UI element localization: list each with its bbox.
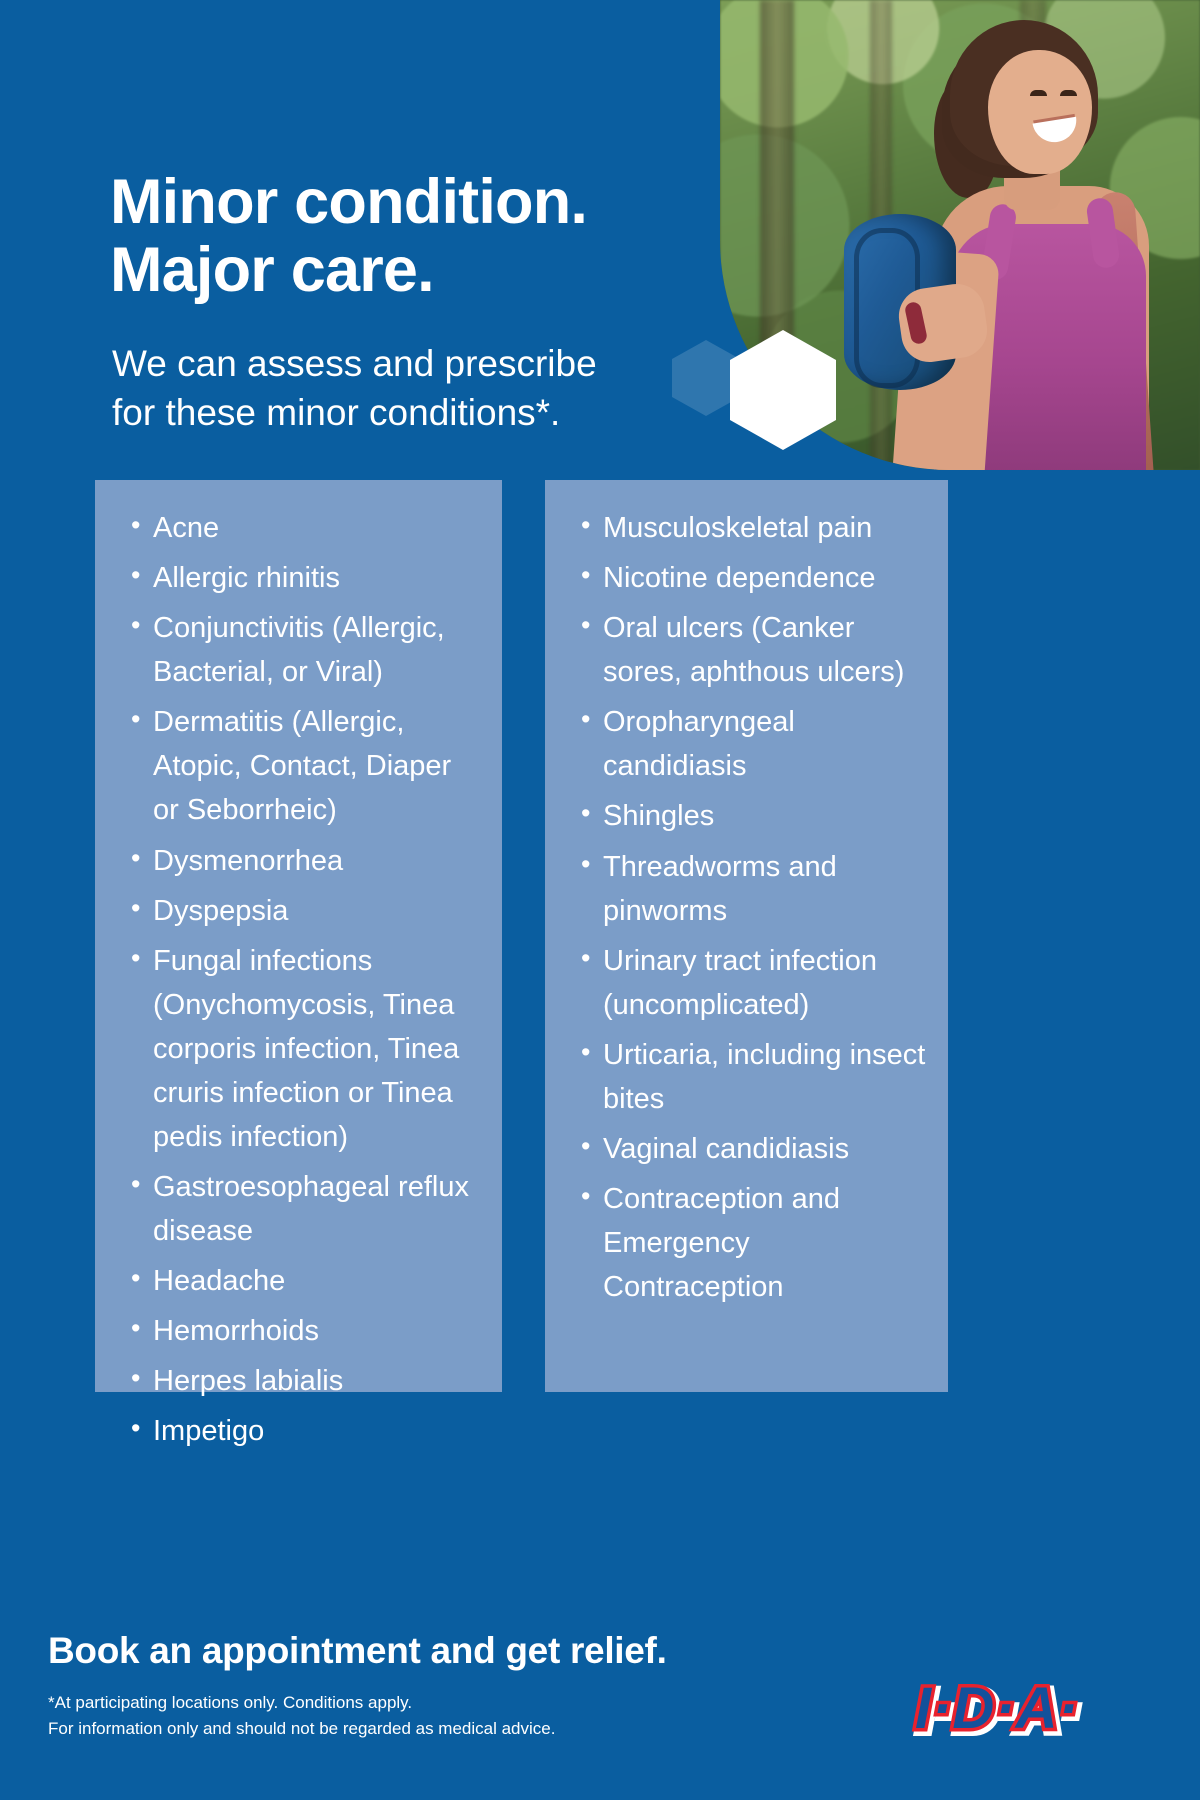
condition-list-item: Dysmenorrhea <box>131 839 484 883</box>
condition-list-item: Contraception and Emergency Contraceptio… <box>581 1177 930 1309</box>
condition-list-item: Urinary tract infection (uncomplicated) <box>581 939 930 1027</box>
condition-list-item: Dyspepsia <box>131 889 484 933</box>
ida-logo: I·D·A· I·D·A· <box>915 1672 1105 1746</box>
disclaimer-text: *At participating locations only. Condit… <box>48 1690 555 1741</box>
condition-list-item: Conjunctivitis (Allergic, Bacterial, or … <box>131 606 484 694</box>
ida-logo-text: I·D·A· <box>915 1672 1079 1746</box>
eye <box>1060 90 1077 96</box>
condition-list-item: Acne <box>131 506 484 550</box>
condition-list-item: Headache <box>131 1259 484 1303</box>
condition-list-item: Impetigo <box>131 1409 484 1453</box>
poster-root: Minor condition. Major care. We can asse… <box>0 0 1200 1800</box>
condition-list-item: Allergic rhinitis <box>131 556 484 600</box>
condition-list-item: Fungal infections (Onychomycosis, Tinea … <box>131 939 484 1159</box>
condition-list-item: Gastroesophageal reflux disease <box>131 1165 484 1253</box>
condition-list-item: Oral ulcers (Canker sores, aphthous ulce… <box>581 606 930 694</box>
conditions-list-right: Musculoskeletal painNicotine dependenceO… <box>559 506 930 1309</box>
condition-list-item: Shingles <box>581 794 930 838</box>
condition-list-item: Nicotine dependence <box>581 556 930 600</box>
condition-list-item: Vaginal candidiasis <box>581 1127 930 1171</box>
condition-list-item: Hemorrhoids <box>131 1309 484 1353</box>
conditions-panel-left: AcneAllergic rhinitisConjunctivitis (All… <box>95 480 502 1392</box>
condition-list-item: Herpes labialis <box>131 1359 484 1403</box>
condition-list-item: Oropharyngeal candidiasis <box>581 700 930 788</box>
condition-list-item: Urticaria, including insect bites <box>581 1033 930 1121</box>
condition-list-item: Dermatitis (Allergic, Atopic, Contact, D… <box>131 700 484 832</box>
condition-list-item: Threadworms and pinworms <box>581 845 930 933</box>
page-subtitle: We can assess and prescribe for these mi… <box>112 340 597 438</box>
page-title: Minor condition. Major care. <box>110 168 587 304</box>
call-to-action-text: Book an appointment and get relief. <box>48 1630 667 1672</box>
woman-figure <box>838 16 1200 470</box>
face <box>988 50 1092 174</box>
condition-list-item: Musculoskeletal pain <box>581 506 930 550</box>
eye <box>1030 90 1047 96</box>
conditions-panel-right: Musculoskeletal painNicotine dependenceO… <box>545 480 948 1392</box>
conditions-list-left: AcneAllergic rhinitisConjunctivitis (All… <box>109 506 484 1454</box>
